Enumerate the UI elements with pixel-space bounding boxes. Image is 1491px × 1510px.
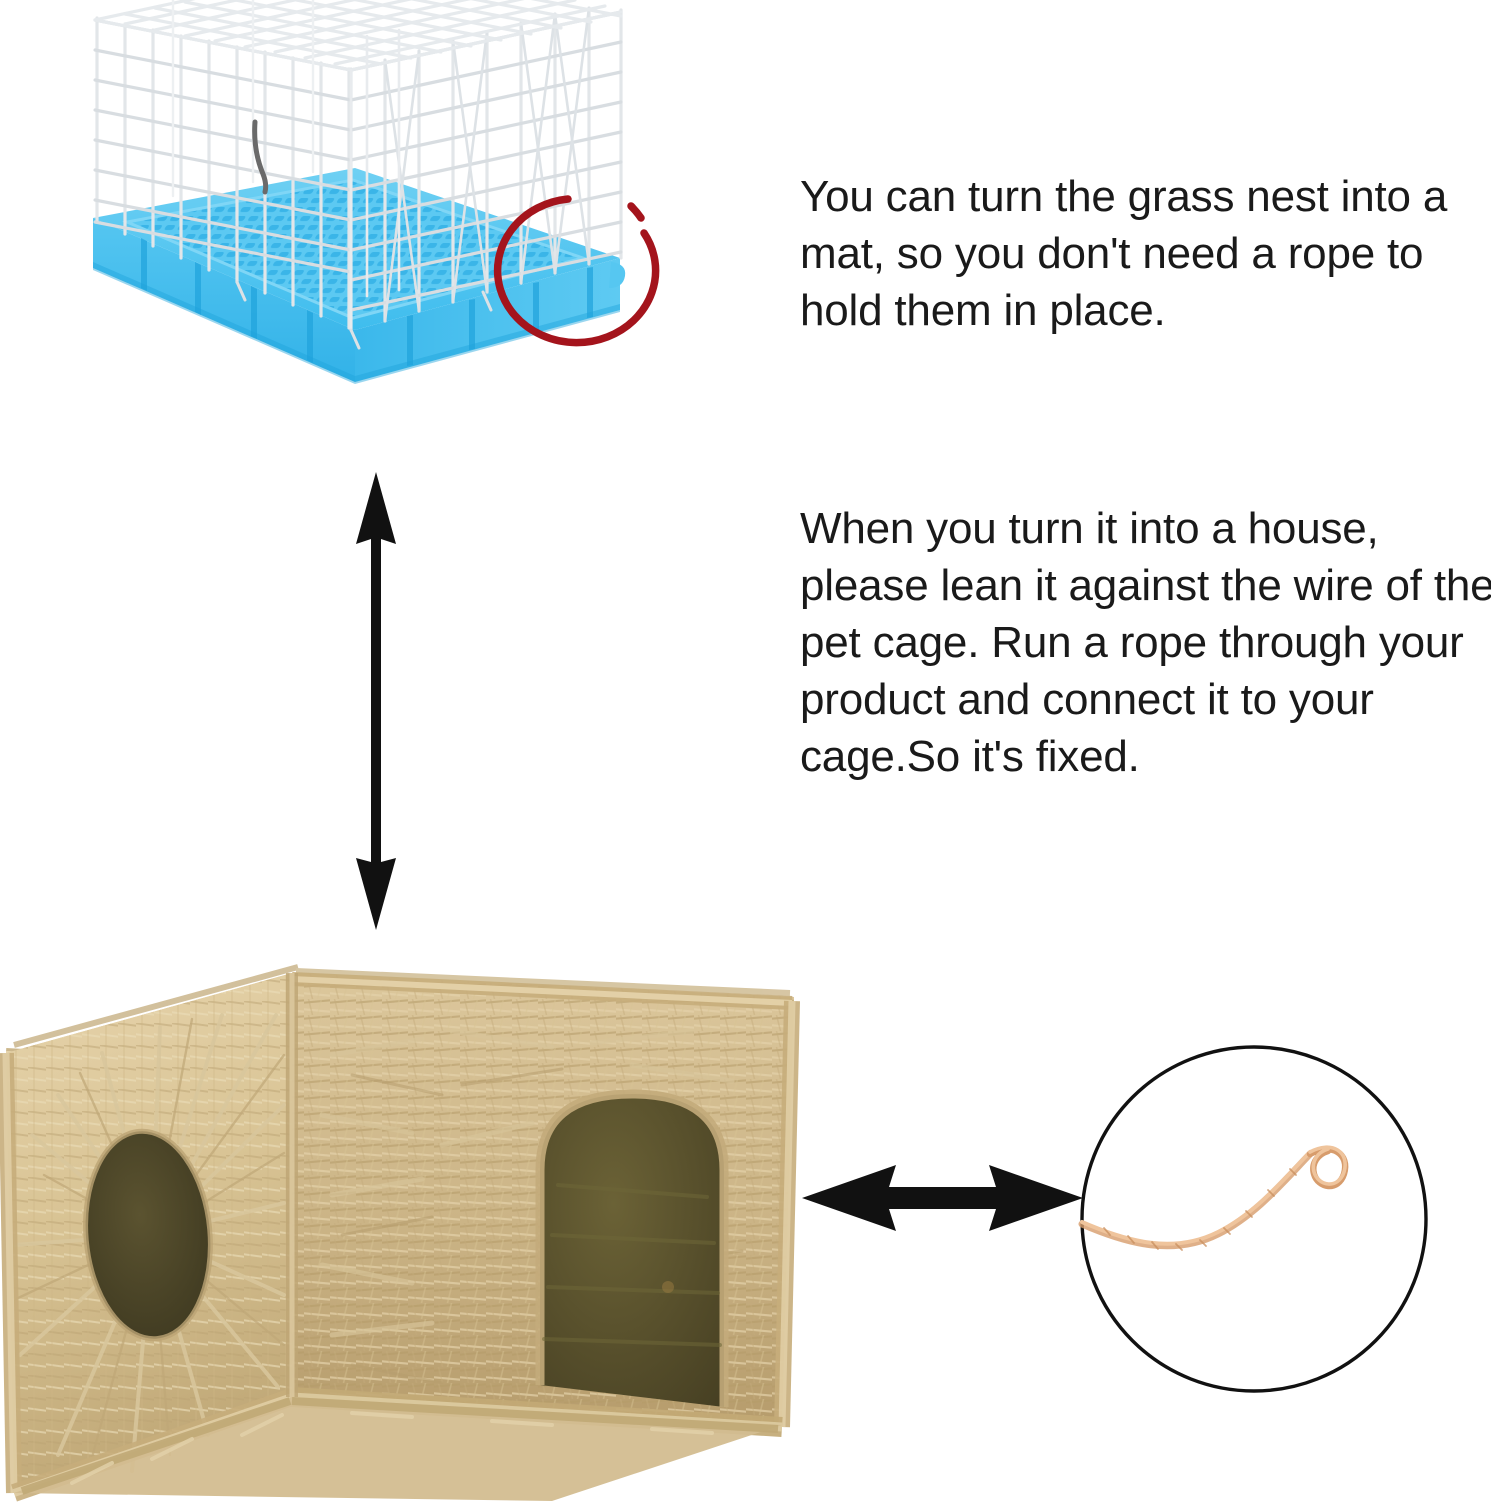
infographic-canvas: You can turn the grass nest into a mat, …: [0, 0, 1491, 1500]
double-arrow-horizontal-svg: [800, 1155, 1085, 1241]
double-arrow-horizontal: [800, 1155, 1085, 1241]
grass-house-illustration: [0, 935, 802, 1505]
double-arrow-vertical: [347, 470, 405, 932]
grass-house-svg: [0, 935, 802, 1505]
house-front-door: [540, 1094, 724, 1407]
pet-cage-illustration: [55, 0, 695, 460]
house-front-panel: [292, 973, 794, 1427]
instruction-text-mat: You can turn the grass nest into a mat, …: [800, 168, 1490, 339]
rope-closeup-svg: [1078, 1038, 1430, 1400]
rope-closeup-circle: [1078, 1038, 1430, 1400]
pet-cage-svg: [55, 0, 695, 460]
closeup-circle-outline: [1082, 1047, 1426, 1391]
instruction-text-house: When you turn it into a house, please le…: [800, 500, 1491, 785]
double-arrow-vertical-svg: [347, 470, 405, 932]
